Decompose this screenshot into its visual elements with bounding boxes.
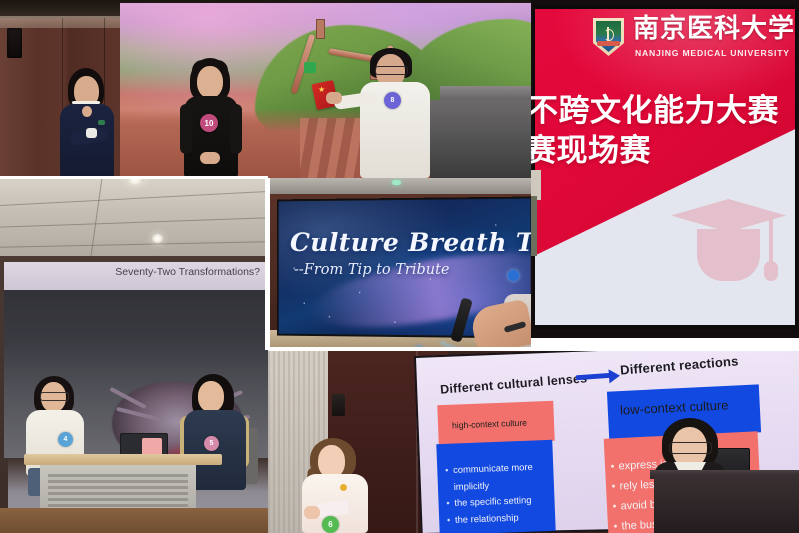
arm-left [180, 104, 192, 154]
high-context-bullet-list: •communicate more implicitly •the specif… [445, 458, 567, 529]
bullet-dot-icon: • [611, 477, 620, 497]
emblem-wave [597, 41, 620, 46]
contestant-number-badge: 5 [204, 436, 219, 451]
ceiling-light-icon [392, 180, 401, 185]
event-title-line-2: 赛现场赛 [531, 133, 799, 169]
bullet-dot-icon: • [612, 497, 621, 517]
person-woman-navy-dress [56, 68, 118, 178]
photo-collage: 10 ★ 8 [0, 0, 799, 533]
ceiling-light-icon [152, 234, 163, 243]
slide-subtitle: --From Tip to Tribute [294, 262, 450, 278]
stage-podium [430, 100, 531, 178]
contestant-number-badge: 6 [322, 516, 339, 533]
contestant-number-badge: 10 [200, 114, 218, 132]
list-item-text: implicitly [453, 479, 489, 491]
cap-tassel [769, 217, 773, 263]
person-presenter-left: 6 [298, 438, 374, 533]
collage-gutter [268, 347, 531, 351]
face [197, 66, 223, 98]
lapel-pin-icon [340, 484, 347, 491]
collage-gutter [0, 176, 268, 179]
person-woman-black-top: 10 [178, 58, 244, 178]
podium [654, 476, 799, 533]
wall-speaker-icon [7, 28, 22, 58]
watchtower [316, 19, 325, 39]
face [198, 381, 224, 412]
screen-logo-dot-icon [508, 270, 519, 281]
university-name-chinese: 南京医科大学 [633, 14, 791, 44]
conference-table-top [24, 454, 222, 465]
contestant-number-badge: 4 [58, 432, 73, 447]
bullet-dot-icon: • [445, 462, 454, 479]
flag-star-icon: ★ [318, 86, 325, 94]
glasses-icon [669, 442, 712, 454]
bullet-dot-icon: • [613, 516, 622, 533]
right-arrow-head-icon [609, 369, 621, 384]
glasses-icon [40, 392, 69, 401]
bullet-dot-icon: • [447, 511, 456, 528]
collage-gutter [265, 178, 270, 350]
adjacent-wall-sliver [531, 196, 537, 256]
green-card-prop [304, 62, 316, 73]
wall-speaker-icon [332, 394, 345, 416]
wood-floor [0, 508, 268, 533]
contestant-number-badge: 8 [384, 92, 401, 109]
cap-tassel-knot [764, 261, 778, 281]
arm-right [230, 104, 242, 154]
hand [326, 92, 342, 104]
collage-gutter [531, 338, 799, 351]
cap-bowl [697, 229, 760, 281]
bullet-dot-icon: • [446, 495, 455, 512]
event-title-line-1: 不跨文化能力大赛 [531, 93, 799, 129]
lapel-pin-icon [98, 120, 105, 125]
panel-seventy-two-transformations[interactable]: Seventy-Two Transformations? 4 5 [0, 178, 268, 533]
university-name-english: NANJING MEDICAL UNIVERSITY [635, 48, 795, 58]
slide-title: Culture Breath Talks [290, 228, 531, 257]
graduation-cap-icon [671, 185, 786, 305]
glasses-icon [375, 66, 408, 75]
list-item-text: the relationship [455, 511, 519, 524]
hand [304, 506, 320, 519]
list-item-text: the specific setting [454, 494, 531, 508]
emblem-serpent [604, 29, 614, 41]
hand [82, 106, 92, 117]
bullet-dot-icon: • [610, 457, 619, 477]
panel-stage-group-photo[interactable]: 10 ★ 8 [0, 0, 531, 178]
cuff [86, 128, 97, 138]
list-item-text: communicate more [453, 461, 533, 475]
clasped-hands [200, 152, 220, 164]
slide-title-text: Seventy-Two Transformations? [115, 266, 260, 278]
person-man-white-shirt: ★ 8 [348, 48, 438, 178]
panel-university-banner[interactable]: 南京医科大学 NANJING MEDICAL UNIVERSITY 不跨文化能力… [531, 0, 799, 347]
panel-culture-breath-talks[interactable]: Culture Breath Talks --From Tip to Tribu… [268, 178, 531, 350]
panel-cultural-lenses[interactable]: Different cultural lenses Different reac… [268, 350, 799, 533]
